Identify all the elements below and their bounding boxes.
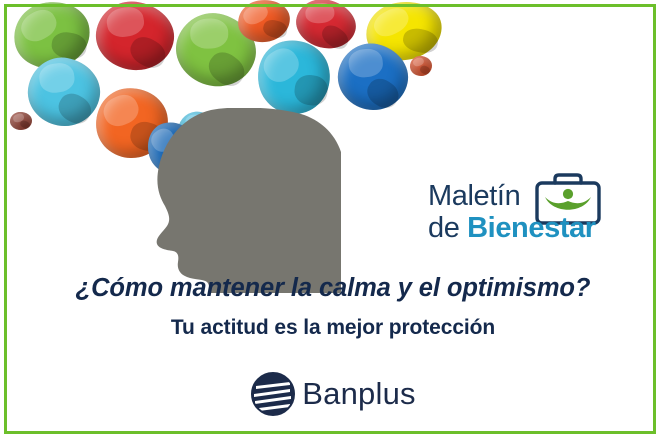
head-silhouette	[145, 108, 360, 293]
banplus-globe-icon	[250, 371, 296, 417]
banplus-logo: Banplus	[0, 368, 666, 420]
logo-word-bienestar: Bienestar	[467, 212, 596, 244]
wellness-person-icon	[545, 189, 591, 210]
page-title: ¿Cómo mantener la calma y el optimismo?	[0, 274, 666, 303]
head-profile-icon	[145, 108, 360, 293]
banplus-wordmark: Banplus	[302, 376, 415, 412]
page-subtitle: Tu actitud es la mejor protección	[0, 316, 666, 340]
paper-ball-orange-2	[410, 56, 432, 76]
maletin-de-bienestar-logo: Maletín de Bienestar	[425, 168, 625, 258]
logo-word-de: de	[428, 212, 467, 244]
paper-ball-red-1	[92, 0, 179, 75]
paper-ball-maroon-1	[10, 112, 32, 130]
logo-line-maletin: Maletín	[428, 180, 520, 213]
wellness-poster: Maletín de Bienestar ¿Cómo mantener la c…	[0, 0, 666, 444]
artwork-stage	[0, 0, 450, 290]
logo-line-de-bienestar: de Bienestar	[428, 212, 596, 245]
